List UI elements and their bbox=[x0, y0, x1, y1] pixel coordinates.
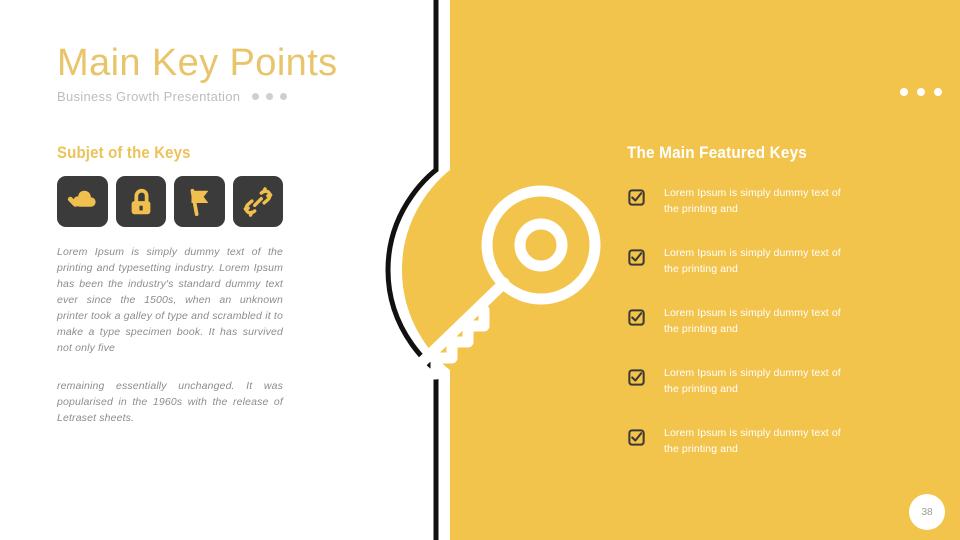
icon-tile-padlock[interactable] bbox=[116, 176, 167, 227]
list-item[interactable]: Lorem Ipsum is simply dummy text of the … bbox=[628, 366, 858, 426]
list-item-label: Lorem Ipsum is simply dummy text of the … bbox=[664, 366, 858, 398]
subtitle-dot bbox=[280, 93, 287, 100]
page-subtitle: Business Growth Presentation bbox=[57, 89, 240, 104]
title-block: Main Key Points Business Growth Presenta… bbox=[57, 44, 437, 104]
list-item[interactable]: Lorem Ipsum is simply dummy text of the … bbox=[628, 426, 858, 486]
broken-link-icon bbox=[243, 187, 273, 217]
feature-list: Lorem Ipsum is simply dummy text of the … bbox=[628, 186, 858, 486]
checkbox-checked-icon bbox=[628, 249, 645, 266]
slide-canvas: Main Key Points Business Growth Presenta… bbox=[0, 0, 960, 540]
left-paragraph-1: Lorem Ipsum is simply dummy text of the … bbox=[57, 245, 283, 357]
list-item-label: Lorem Ipsum is simply dummy text of the … bbox=[664, 426, 858, 458]
list-item[interactable]: Lorem Ipsum is simply dummy text of the … bbox=[628, 186, 858, 246]
padlock-icon bbox=[126, 187, 156, 217]
list-item[interactable]: Lorem Ipsum is simply dummy text of the … bbox=[628, 306, 858, 366]
subtitle-dot bbox=[252, 93, 259, 100]
subtitle-dots bbox=[252, 93, 287, 100]
subtitle-row: Business Growth Presentation bbox=[57, 89, 437, 104]
corner-dot bbox=[934, 88, 942, 96]
list-item-label: Lorem Ipsum is simply dummy text of the … bbox=[664, 306, 858, 338]
list-item-label: Lorem Ipsum is simply dummy text of the … bbox=[664, 246, 858, 278]
page-number-badge: 38 bbox=[909, 494, 945, 530]
page-title: Main Key Points bbox=[57, 44, 437, 84]
checkbox-checked-icon bbox=[628, 429, 645, 446]
corner-dots bbox=[900, 88, 942, 96]
icon-row bbox=[57, 176, 283, 227]
checkbox-checked-icon bbox=[628, 309, 645, 326]
icon-tile-broken-link[interactable] bbox=[233, 176, 284, 227]
right-section-heading: The Main Featured Keys bbox=[627, 143, 807, 163]
left-section-heading: Subjet of the Keys bbox=[57, 143, 256, 163]
list-item[interactable]: Lorem Ipsum is simply dummy text of the … bbox=[628, 246, 858, 306]
left-content-column: Subjet of the Keys bbox=[57, 143, 283, 427]
icon-tile-cloud-check[interactable] bbox=[57, 176, 108, 227]
subtitle-dot bbox=[266, 93, 273, 100]
corner-dot bbox=[917, 88, 925, 96]
cloud-check-icon bbox=[67, 187, 97, 217]
left-paragraph-2: remaining essentially unchanged. It was … bbox=[57, 379, 283, 427]
corner-dot bbox=[900, 88, 908, 96]
icon-tile-flag[interactable] bbox=[174, 176, 225, 227]
list-item-label: Lorem Ipsum is simply dummy text of the … bbox=[664, 186, 858, 218]
checkbox-checked-icon bbox=[628, 189, 645, 206]
flag-icon bbox=[184, 187, 214, 217]
checkbox-checked-icon bbox=[628, 369, 645, 386]
